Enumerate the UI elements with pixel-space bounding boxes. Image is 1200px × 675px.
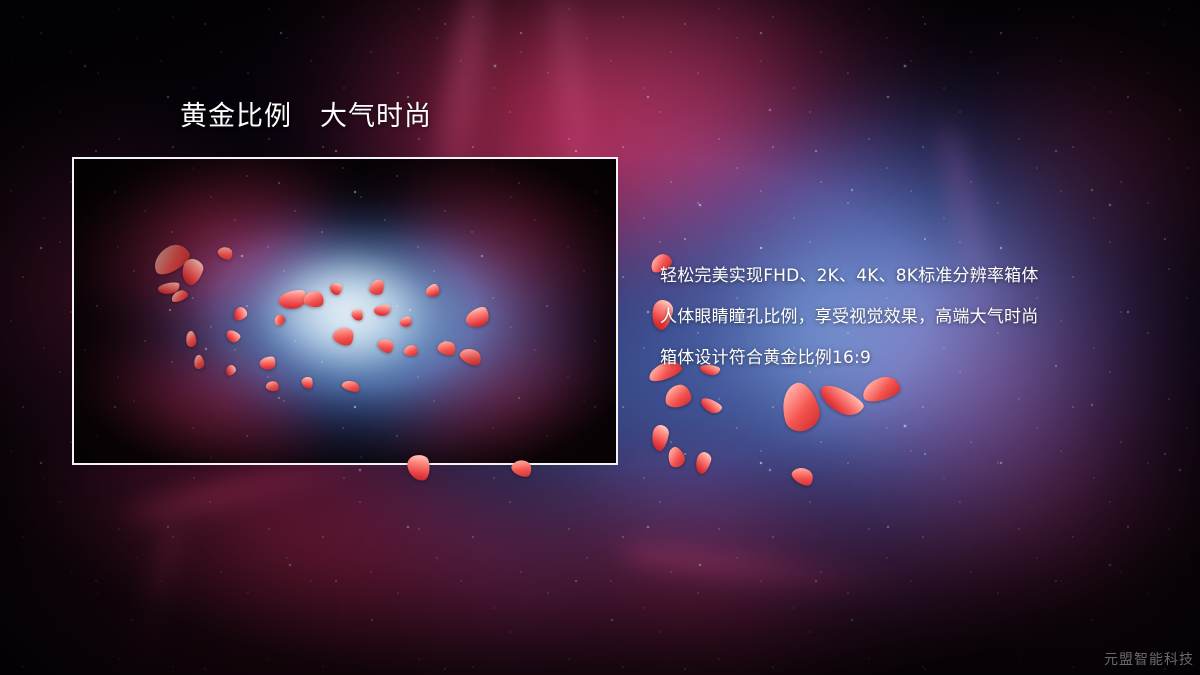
watermark: 元盟智能科技 xyxy=(1104,649,1194,669)
page-title: 黄金比例 大气时尚 xyxy=(180,100,432,134)
body-copy-line-3: 箱体设计符合黄金比例16:9 xyxy=(660,338,1170,379)
photo-vignette xyxy=(74,159,616,463)
photo-image xyxy=(74,159,616,463)
body-copy-line-2: 人体眼睛瞳孔比例，享受视觉效果，高端大气时尚 xyxy=(660,297,1170,338)
photo-frame xyxy=(72,157,618,465)
body-copy-line-1: 轻松完美实现FHD、2K、4K、8K标准分辨率箱体 xyxy=(660,256,1170,297)
body-copy: 轻松完美实现FHD、2K、4K、8K标准分辨率箱体 人体眼睛瞳孔比例，享受视觉效… xyxy=(660,256,1170,379)
slide-root: 黄金比例 大气时尚 xyxy=(0,0,1200,675)
